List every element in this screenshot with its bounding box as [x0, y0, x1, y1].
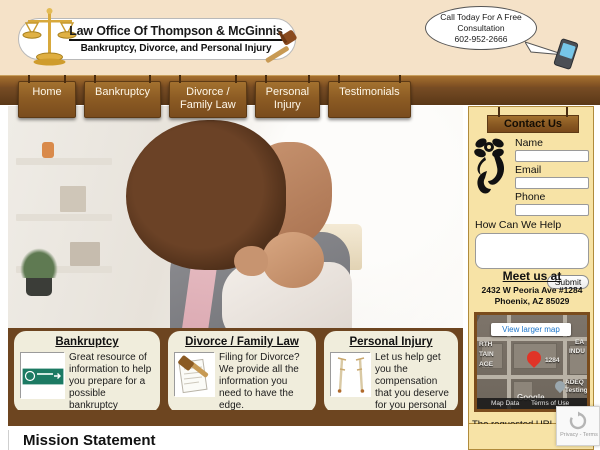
feature-card-bankruptcy[interactable]: Bankruptcy Great resource of information… — [14, 331, 160, 413]
phone-label: Phone — [515, 191, 545, 203]
highway-sign-icon — [20, 352, 64, 398]
map-embed[interactable]: RTH TAIN AGE EA INDU ADEQ Testing 1284 V… — [474, 312, 590, 412]
hero-baby-head — [262, 232, 324, 288]
feature-title: Divorce / Family Law — [174, 336, 310, 349]
sidebar: Contact Us Name Email Phone How Can We H — [468, 106, 594, 424]
call-bubble: Call Today For A Free Consultation 602-9… — [425, 6, 537, 50]
map-label: EA — [575, 339, 584, 347]
feature-text: Let us help get you the compensation tha… — [375, 352, 452, 413]
feature-card-personal-injury[interactable]: Personal Injury Let us help get you the … — [324, 331, 458, 413]
site-header: Law Office Of Thompson & McGinnis Bankru… — [0, 0, 600, 75]
address-line-2: Phoenix, AZ 85029 — [469, 296, 595, 307]
hero-shelf — [16, 158, 112, 165]
nav-item-bankruptcy[interactable]: Bankruptcy — [84, 81, 161, 118]
nav-item-personal-injury[interactable]: Personal Injury — [255, 81, 320, 118]
hero-image — [8, 106, 463, 328]
logo-line-2: Bankruptcy, Divorce, and Personal Injury — [62, 43, 290, 54]
map-label: TAIN — [479, 351, 494, 359]
office-address: 2432 W Peoria Ave #1284 Phoenix, AZ 8502… — [469, 285, 595, 307]
bubble-phone-number: 602-952-2666 — [426, 34, 536, 45]
address-line-1: 2432 W Peoria Ave #1284 — [469, 285, 595, 296]
hero-books — [70, 242, 100, 266]
bubble-line-1: Call Today For A Free — [426, 12, 536, 23]
hero-baby-hand — [234, 246, 268, 276]
how-can-we-help-textarea[interactable] — [475, 233, 589, 269]
feature-title: Personal Injury — [330, 336, 452, 349]
hero-books — [60, 186, 86, 212]
hero-vase — [42, 142, 54, 158]
logo-line-1: Law Office Of Thompson & McGinnis — [69, 24, 283, 41]
contact-us-heading[interactable]: Contact Us — [487, 115, 579, 133]
nav-item-home[interactable]: Home — [18, 81, 76, 118]
hero-mother-hair — [126, 120, 286, 270]
mission-statement-section: Mission Statement — [8, 430, 463, 450]
map-data-link[interactable]: Map Data — [491, 398, 519, 409]
map-label: 1284 — [545, 357, 559, 365]
feature-card-divorce-family-law[interactable]: Divorce / Family Law Filing for Divorce?… — [168, 331, 316, 413]
gavel-icon — [262, 30, 304, 64]
page-edge-left — [0, 106, 8, 450]
gavel-documents-icon — [174, 352, 214, 396]
email-input[interactable] — [515, 177, 589, 189]
logo-text: Law Office Of Thompson & McGinnis Bankru… — [62, 22, 290, 54]
map-road — [477, 337, 590, 341]
crutches-icon — [330, 352, 370, 396]
hero-plant — [26, 274, 52, 296]
phone-input[interactable] — [515, 204, 589, 216]
feature-band-bottom — [8, 410, 463, 426]
page-root: Law Office Of Thompson & McGinnis Bankru… — [0, 0, 600, 450]
feature-text: Filing for Divorce? We provide all the i… — [219, 352, 310, 412]
map-label: RTH — [479, 341, 492, 349]
bubble-line-2: Consultation — [426, 23, 536, 34]
nav-item-testimonials[interactable]: Testimonials — [328, 81, 411, 118]
how-can-we-help-label: How Can We Help — [475, 219, 561, 231]
nav-item-divorce-family-law[interactable]: Divorce / Family Law — [169, 81, 247, 118]
recaptcha-badge[interactable]: Privacy - Terms — [556, 406, 600, 446]
map-label: AGE — [479, 361, 493, 369]
flower-ornament-icon — [473, 137, 517, 205]
email-label: Email — [515, 164, 541, 176]
recaptcha-privacy-terms[interactable]: Privacy - Terms — [557, 432, 600, 438]
main-navigation: Home Bankruptcy Divorce / Family Law Per… — [18, 81, 411, 118]
hero-subject-mother-and-baby — [126, 120, 376, 328]
feature-text: Great resource of information to help yo… — [69, 352, 154, 412]
map-label: Testing — [565, 387, 588, 395]
name-input[interactable] — [515, 150, 589, 162]
recaptcha-icon — [567, 411, 589, 431]
map-label: INDU — [569, 348, 585, 356]
name-label: Name — [515, 137, 543, 149]
meet-us-at-heading: Meet us at — [469, 269, 595, 283]
map-label: ADEQ — [565, 379, 584, 387]
hero-shelf — [16, 214, 112, 221]
feature-title: Bankruptcy — [20, 336, 154, 349]
view-larger-map-button[interactable]: View larger map — [491, 323, 571, 336]
mission-statement-heading: Mission Statement — [23, 432, 156, 449]
